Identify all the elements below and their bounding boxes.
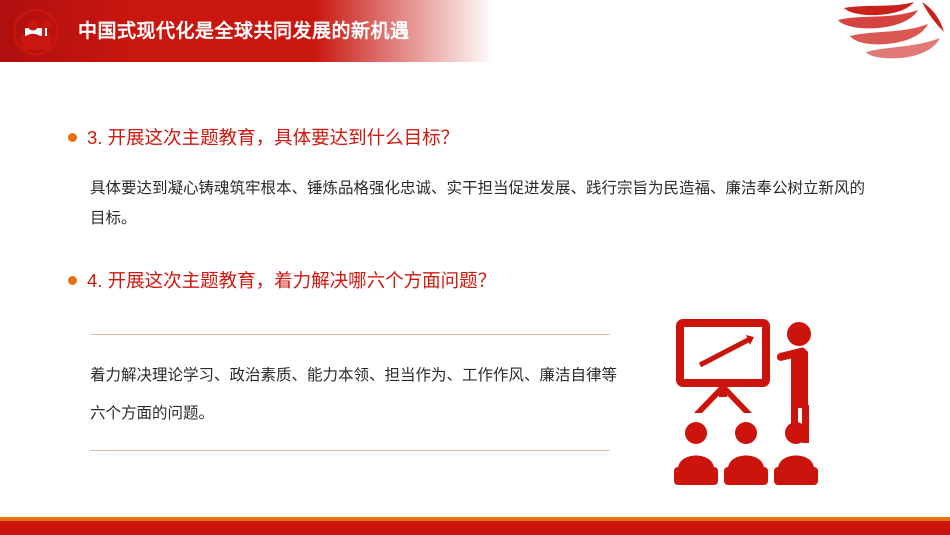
answer-text-3: 具体要达到凝心铸魂筑牢根本、锤炼品格强化忠诚、实干担当促进发展、践行宗旨为民造福… <box>90 174 880 234</box>
question-block-3: 3. 开展这次主题教育，具体要达到什么目标？ <box>68 124 459 150</box>
answer-text-4: 着力解决理论学习、政治素质、能力本领、担当作为、工作作风、廉洁自律等六个方面的问… <box>90 357 630 433</box>
page-title: 中国式现代化是全球共同发展的新机遇 <box>78 16 410 43</box>
question-line-3: 3. 开展这次主题教育，具体要达到什么目标？ <box>68 124 459 150</box>
divider-above-answer-4 <box>90 334 610 335</box>
slide-footer <box>0 517 950 535</box>
question-text-3: 3. 开展这次主题教育，具体要达到什么目标？ <box>87 124 459 150</box>
classroom-training-whiteboard-icon <box>672 317 852 492</box>
person-speaker-icon <box>12 8 60 56</box>
red-ribbon-decoration-icon <box>836 2 946 64</box>
orange-dot-bullet-icon <box>68 133 77 142</box>
divider-below-answer-4 <box>90 450 610 451</box>
question-line-4: 4. 开展这次主题教育，着力解决哪六个方面问题？ <box>68 267 496 293</box>
slide-header: 中国式现代化是全球共同发展的新机遇 <box>0 0 950 62</box>
footer-red-bar <box>0 521 950 535</box>
orange-dot-bullet-icon <box>68 276 77 285</box>
slide-body: 3. 开展这次主题教育，具体要达到什么目标？ 具体要达到凝心铸魂筑牢根本、锤炼品… <box>0 62 950 517</box>
question-block-4: 4. 开展这次主题教育，着力解决哪六个方面问题？ <box>68 267 496 293</box>
question-text-4: 4. 开展这次主题教育，着力解决哪六个方面问题？ <box>87 267 496 293</box>
